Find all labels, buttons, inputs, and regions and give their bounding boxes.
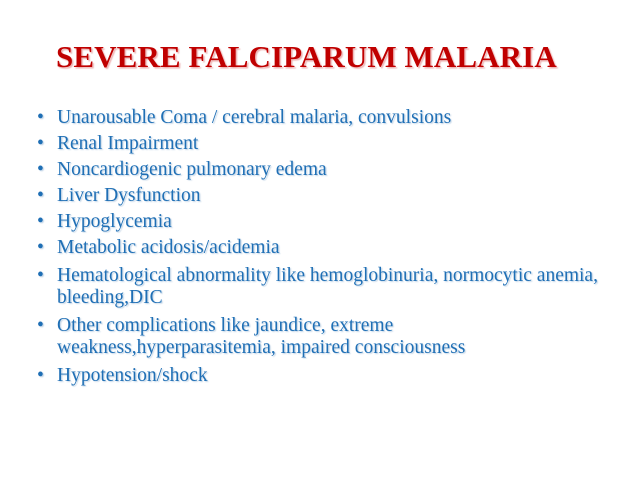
list-item-label: Unarousable Coma / cerebral malaria, con… [57,107,615,130]
list-item: • Liver Dysfunction [30,185,615,208]
list-item: • Renal Impairment [30,133,615,156]
bullet-dot-icon: • [37,185,44,208]
slide-canvas: SEVERE FALCIPARUM MALARIA • Unarousable … [0,0,638,479]
list-item: • Other complications like jaundice, ext… [30,315,615,360]
bullet-list: • Unarousable Coma / cerebral malaria, c… [30,107,615,391]
list-item: • Unarousable Coma / cerebral malaria, c… [30,107,615,130]
list-item-label: Hypotension/shock [57,365,615,388]
bullet-dot-icon: • [37,211,44,234]
list-item-label: Hematological abnormality like hemoglobi… [57,265,615,310]
list-item: • Hematological abnormality like hemoglo… [30,265,615,310]
list-item-label: Other complications like jaundice, extre… [57,315,615,360]
list-item-label: Liver Dysfunction [57,185,615,208]
bullet-dot-icon: • [37,265,44,288]
list-item: • Metabolic acidosis/acidemia [30,237,615,260]
list-item: • Hypotension/shock [30,365,615,388]
bullet-dot-icon: • [37,159,44,182]
bullet-dot-icon: • [37,237,44,260]
list-item: • Hypoglycemia [30,211,615,234]
list-item-label: Metabolic acidosis/acidemia [57,237,615,260]
bullet-dot-icon: • [37,365,44,388]
bullet-dot-icon: • [37,133,44,156]
list-item-label: Hypoglycemia [57,211,615,234]
bullet-dot-icon: • [37,107,44,130]
list-item-label: Renal Impairment [57,133,615,156]
page-title: SEVERE FALCIPARUM MALARIA [56,40,616,74]
bullet-dot-icon: • [37,315,44,338]
list-item: • Noncardiogenic pulmonary edema [30,159,615,182]
list-item-label: Noncardiogenic pulmonary edema [57,159,615,182]
